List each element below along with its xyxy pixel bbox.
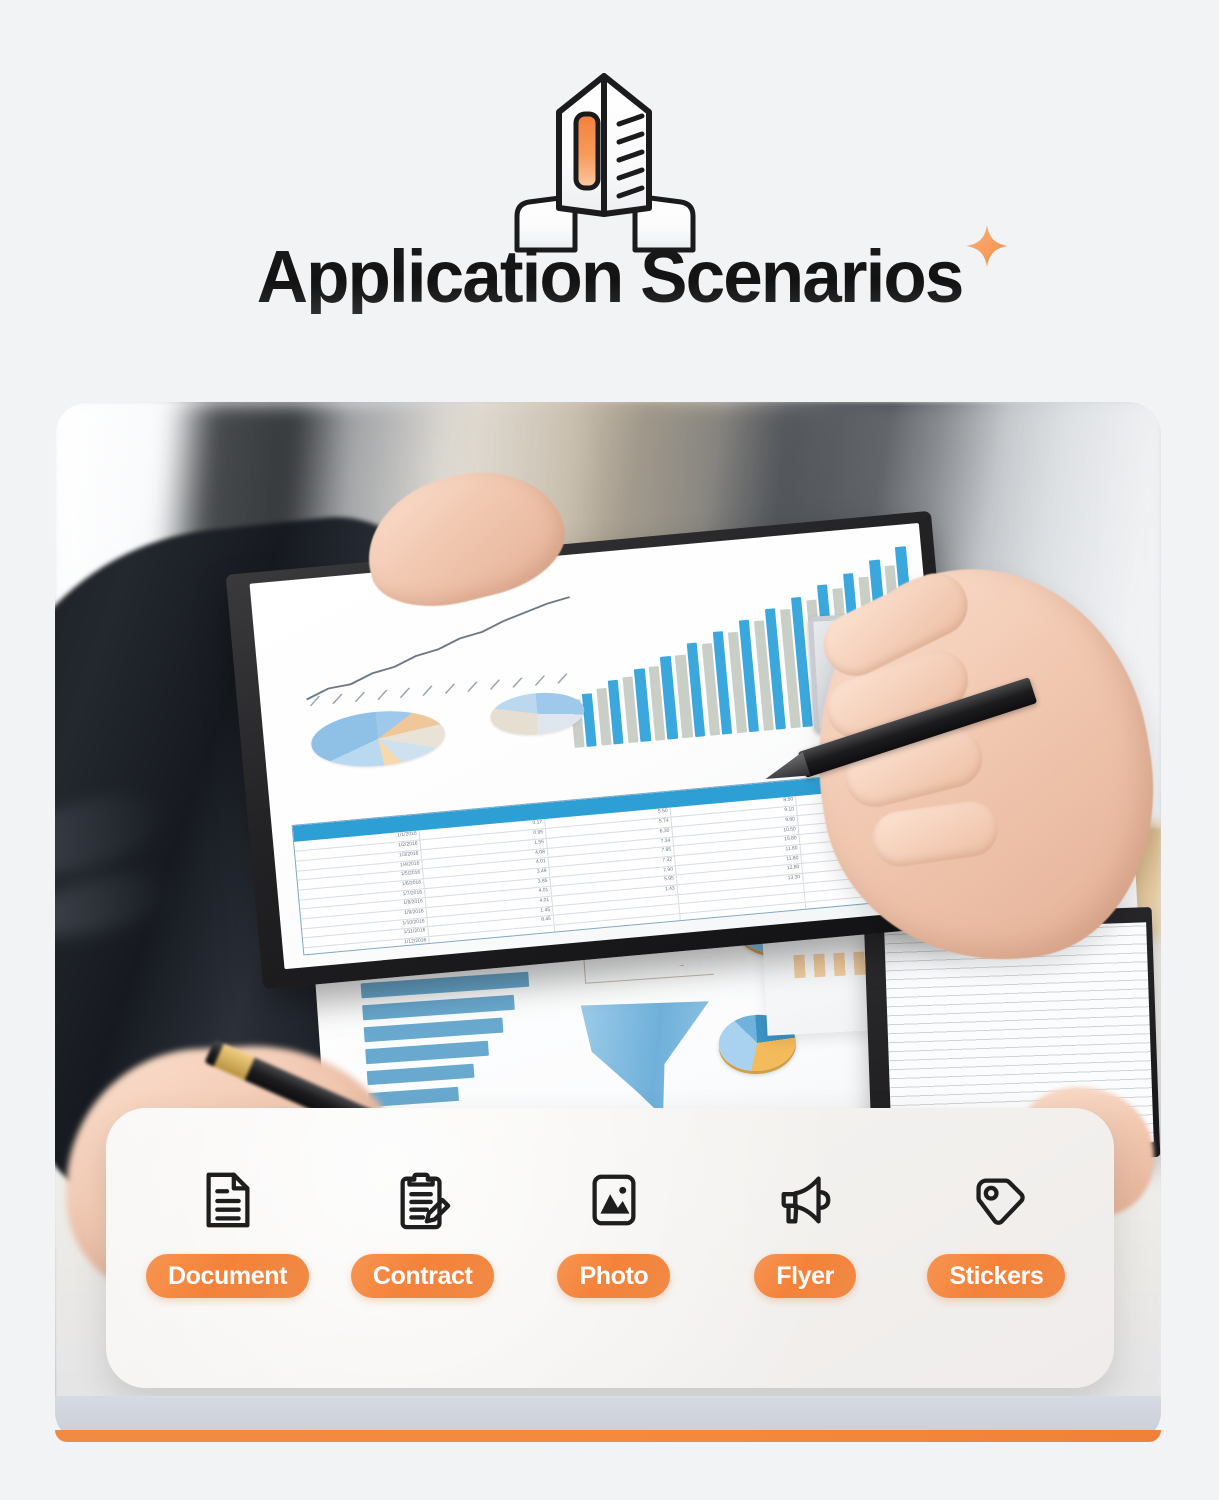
scenario-label-document[interactable]: Document: [146, 1254, 309, 1298]
scenario-label-photo[interactable]: Photo: [557, 1254, 670, 1298]
card-accent-bar: [55, 1430, 1161, 1442]
scenario-label-flyer[interactable]: Flyer: [754, 1254, 856, 1298]
image-icon: [578, 1164, 650, 1236]
page-title: Application Scenarios: [257, 240, 963, 314]
scenario-label-stickers[interactable]: Stickers: [927, 1254, 1065, 1298]
report-pie-chart-2: [489, 690, 586, 739]
page-header: Application Scenarios: [0, 0, 1219, 390]
title-row: Application Scenarios: [0, 240, 1219, 314]
scenario-label-contract[interactable]: Contract: [351, 1254, 495, 1298]
clipboard-pencil-icon: [387, 1164, 459, 1236]
sheet-funnel-chart: [581, 996, 717, 1121]
scenario-item-stickers[interactable]: Stickers: [919, 1164, 1074, 1298]
scenarios-panel: Document Contract: [106, 1108, 1114, 1388]
tag-icon: [960, 1164, 1032, 1236]
sparkle-icon: [963, 222, 1011, 270]
scenario-item-contract[interactable]: Contract: [345, 1164, 500, 1298]
scenario-item-document[interactable]: Document: [146, 1164, 309, 1298]
application-scenarios-page: Application Scenarios: [0, 0, 1219, 1500]
scenarios-list: Document Contract: [106, 1164, 1114, 1298]
scenario-item-photo[interactable]: Photo: [536, 1164, 691, 1298]
report-pie-chart-1: [309, 706, 448, 772]
document-icon: [192, 1164, 264, 1236]
megaphone-icon: [769, 1164, 841, 1236]
building-icon: [497, 68, 712, 253]
scenario-item-flyer[interactable]: Flyer: [728, 1164, 883, 1298]
